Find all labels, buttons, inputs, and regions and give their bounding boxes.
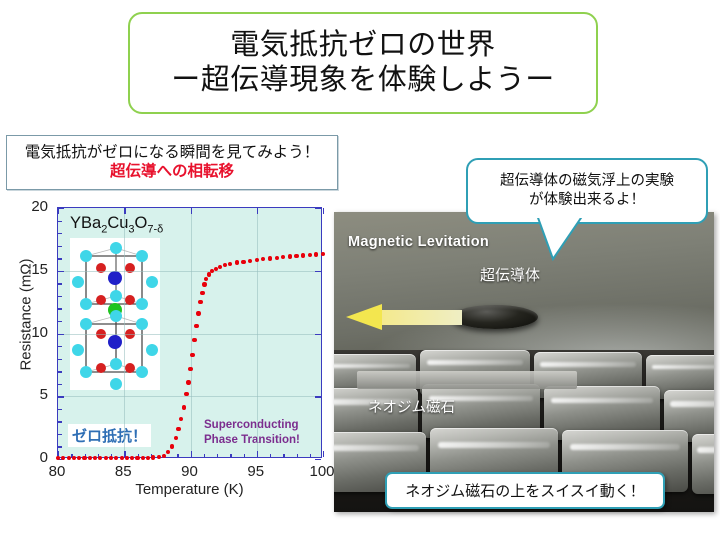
chart-minor-tick	[283, 454, 284, 458]
chart-data-point	[194, 324, 198, 328]
chart-data-point	[56, 456, 60, 460]
chart-gridline	[124, 208, 125, 457]
chart-minor-tick	[217, 454, 218, 458]
phase-transition-label: SuperconductingPhase Transition!	[204, 418, 300, 449]
title-box: 電気抵抗ゼロの世界 ー超伝導現象を体験しようー	[128, 12, 598, 114]
speech-bubble-tail	[531, 215, 591, 261]
chart-minor-tick	[58, 434, 62, 435]
chart-tick	[315, 208, 321, 209]
chart-y-tick-label: 5	[18, 386, 48, 403]
chart-data-point	[179, 417, 183, 421]
chart-data-point	[207, 272, 211, 276]
chart-data-point	[130, 456, 134, 460]
chart-data-point	[248, 259, 252, 263]
chart-data-point	[255, 258, 259, 262]
chart-minor-tick	[58, 421, 62, 422]
chart-data-point	[241, 260, 245, 264]
sample-formula-label: YBa2Cu3O7-δ	[70, 214, 163, 235]
chart-data-point	[235, 260, 239, 264]
chart-data-point	[77, 456, 81, 460]
chart-minor-tick	[58, 446, 62, 447]
chart-tick	[315, 396, 321, 397]
chart-data-point	[210, 269, 214, 273]
chart-data-point	[268, 256, 272, 260]
crystal-structure-svg	[70, 238, 160, 390]
chart-data-point	[308, 253, 312, 257]
chart-data-point	[104, 456, 108, 460]
chart-minor-tick	[58, 258, 62, 259]
crystal-structure-inset	[70, 238, 160, 390]
chart-data-point	[176, 427, 180, 431]
chart-gridline	[191, 208, 192, 457]
chart-x-axis-label: Temperature (K)	[57, 481, 322, 498]
chart-data-point	[198, 300, 202, 304]
chart-data-point	[114, 456, 118, 460]
chart-data-point	[120, 456, 124, 460]
arrow-head	[346, 304, 382, 330]
chart-tick	[315, 459, 321, 460]
chart-data-point	[174, 436, 178, 440]
chart-data-point	[67, 456, 71, 460]
chart-gridline	[58, 334, 321, 335]
chart-minor-tick	[177, 454, 178, 458]
zero-resistance-label: ゼロ抵抗！	[68, 424, 151, 447]
chart-data-point	[109, 456, 113, 460]
chart-data-point	[82, 456, 86, 460]
chart-minor-tick	[58, 359, 62, 360]
chart-minor-tick	[204, 454, 205, 458]
chart-data-point	[196, 311, 200, 315]
page-title-line-1: 電気抵抗ゼロの世界	[230, 28, 496, 63]
chart-minor-tick	[58, 296, 62, 297]
chart-y-tick-label: 15	[18, 261, 48, 278]
chart-data-point	[162, 454, 166, 458]
chart-minor-tick	[310, 454, 311, 458]
chart-tick	[315, 334, 321, 335]
sample-plate	[357, 371, 577, 389]
resistance-chart: Resistance (mΩ) 05101520 80859095100 Tem…	[0, 196, 336, 506]
chart-data-point	[228, 262, 232, 266]
chart-minor-tick	[58, 321, 62, 322]
chart-data-point	[61, 456, 65, 460]
left-callout-line-1: 電気抵抗がゼロになる瞬間を見てみよう！	[25, 143, 320, 162]
page-title-line-2: ー超伝導現象を体験しようー	[171, 63, 555, 98]
chart-minor-tick	[297, 454, 298, 458]
chart-minor-tick	[58, 409, 62, 410]
levitation-photo: Magnetic Levitation 超伝導体 ネオジム磁石	[334, 212, 714, 512]
chart-data-point	[314, 252, 318, 256]
left-callout-line-2: 超伝導への相転移	[110, 162, 234, 182]
chart-tick	[257, 451, 258, 457]
chart-minor-tick	[58, 221, 62, 222]
neodymium-magnet-label: ネオジム磁石	[368, 396, 455, 417]
chart-gridline	[58, 271, 321, 272]
chart-data-point	[192, 338, 196, 342]
chart-data-point	[186, 380, 190, 384]
chart-tick	[257, 208, 258, 214]
speech-bubble-line-1: 超伝導体の磁気浮上の実験	[500, 172, 674, 191]
chart-data-point	[157, 455, 161, 459]
chart-data-point	[170, 444, 174, 448]
chart-data-point	[202, 282, 206, 286]
magnet-block	[692, 434, 714, 494]
bottom-caption-text: ネオジム磁石の上をスイスイ動く！	[405, 480, 645, 501]
chart-minor-tick	[58, 233, 62, 234]
superconductor-label: 超伝導体	[480, 264, 540, 285]
chart-data-point	[125, 456, 129, 460]
slide-canvas: 電気抵抗ゼロの世界 ー超伝導現象を体験しようー 電気抵抗がゼロになる瞬間を見てみ…	[0, 0, 720, 540]
chart-data-point	[218, 265, 222, 269]
chart-x-tick-label: 80	[37, 463, 77, 480]
chart-tick	[323, 208, 324, 214]
chart-minor-tick	[230, 454, 231, 458]
chart-data-point	[184, 392, 188, 396]
chart-data-point	[135, 456, 139, 460]
superconductor-disk	[452, 305, 538, 329]
chart-data-point	[281, 255, 285, 259]
chart-minor-tick	[58, 283, 62, 284]
chart-data-point	[261, 257, 265, 261]
chart-data-point	[98, 456, 102, 460]
chart-x-tick-label: 95	[236, 463, 276, 480]
bottom-caption-box: ネオジム磁石の上をスイスイ動く！	[385, 472, 665, 509]
magnetic-levitation-label: Magnetic Levitation	[348, 234, 489, 250]
chart-minor-tick	[58, 246, 62, 247]
chart-minor-tick	[58, 308, 62, 309]
chart-data-point	[93, 456, 97, 460]
chart-data-point	[151, 455, 155, 459]
chart-data-point	[200, 291, 204, 295]
chart-data-point	[275, 256, 279, 260]
chart-tick	[124, 208, 125, 214]
chart-data-point	[146, 456, 150, 460]
chart-minor-tick	[270, 454, 271, 458]
chart-data-point	[88, 456, 92, 460]
chart-data-point	[182, 405, 186, 409]
chart-minor-tick	[244, 454, 245, 458]
chart-tick	[315, 271, 321, 272]
speech-bubble-line-2: が体験出来るよ！	[529, 191, 645, 210]
chart-plot-area: YBa2Cu3O7-δ	[57, 207, 322, 458]
chart-data-point	[190, 353, 194, 357]
chart-tick	[191, 208, 192, 214]
chart-x-tick-label: 90	[170, 463, 210, 480]
chart-data-point	[166, 450, 170, 454]
chart-data-point	[188, 367, 192, 371]
arrow-shaft	[378, 310, 462, 325]
motion-arrow	[346, 304, 462, 330]
chart-data-point	[321, 252, 325, 256]
chart-data-point	[204, 277, 208, 281]
chart-data-point	[141, 456, 145, 460]
left-callout-box: 電気抵抗がゼロになる瞬間を見てみよう！ 超伝導への相転移	[6, 135, 338, 190]
chart-gridline	[257, 208, 258, 457]
chart-tick	[58, 208, 59, 214]
chart-data-point	[294, 254, 298, 258]
chart-gridline	[58, 396, 321, 397]
chart-minor-tick	[58, 371, 62, 372]
chart-tick	[58, 396, 64, 397]
chart-minor-tick	[58, 384, 62, 385]
chart-minor-tick	[58, 346, 62, 347]
chart-tick	[58, 334, 64, 335]
chart-y-tick-label: 20	[18, 198, 48, 215]
chart-tick	[191, 451, 192, 457]
chart-data-point	[301, 253, 305, 257]
chart-data-point	[288, 254, 292, 258]
chart-data-point	[72, 456, 76, 460]
chart-tick	[58, 271, 64, 272]
chart-y-tick-label: 10	[18, 324, 48, 341]
chart-x-tick-label: 85	[103, 463, 143, 480]
chart-data-point	[223, 263, 227, 267]
chart-tick	[323, 451, 324, 457]
